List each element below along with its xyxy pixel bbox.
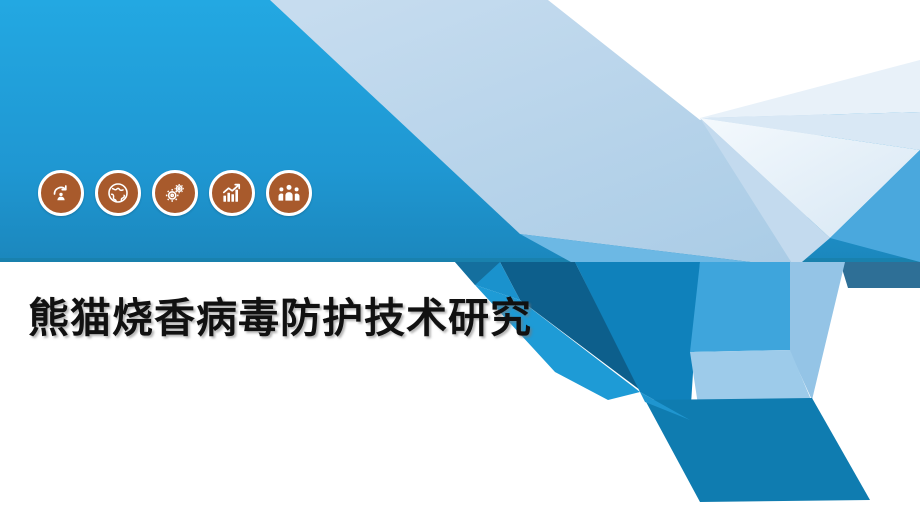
icon-badge-gears[interactable] bbox=[152, 170, 198, 216]
recycle-person-icon bbox=[49, 181, 73, 205]
polygon-lower-sky bbox=[690, 262, 790, 352]
polygon-steel-strip bbox=[840, 262, 920, 288]
icon-badge-recycle[interactable] bbox=[38, 170, 84, 216]
icon-badge-people[interactable] bbox=[266, 170, 312, 216]
bar-chart-growth-icon bbox=[220, 181, 244, 205]
slide-canvas: 数智创新 变革未来 bbox=[0, 0, 920, 518]
page-title: 熊猫烧香病毒防护技术研究 bbox=[28, 296, 532, 341]
background-artwork bbox=[0, 0, 920, 518]
people-group-icon bbox=[277, 181, 301, 205]
globe-icon bbox=[106, 181, 130, 205]
header-tagline: 数智创新 变革未来 bbox=[714, 26, 898, 47]
icon-badge-row bbox=[38, 170, 312, 216]
gears-icon bbox=[163, 181, 187, 205]
icon-badge-globe[interactable] bbox=[95, 170, 141, 216]
icon-badge-chart[interactable] bbox=[209, 170, 255, 216]
